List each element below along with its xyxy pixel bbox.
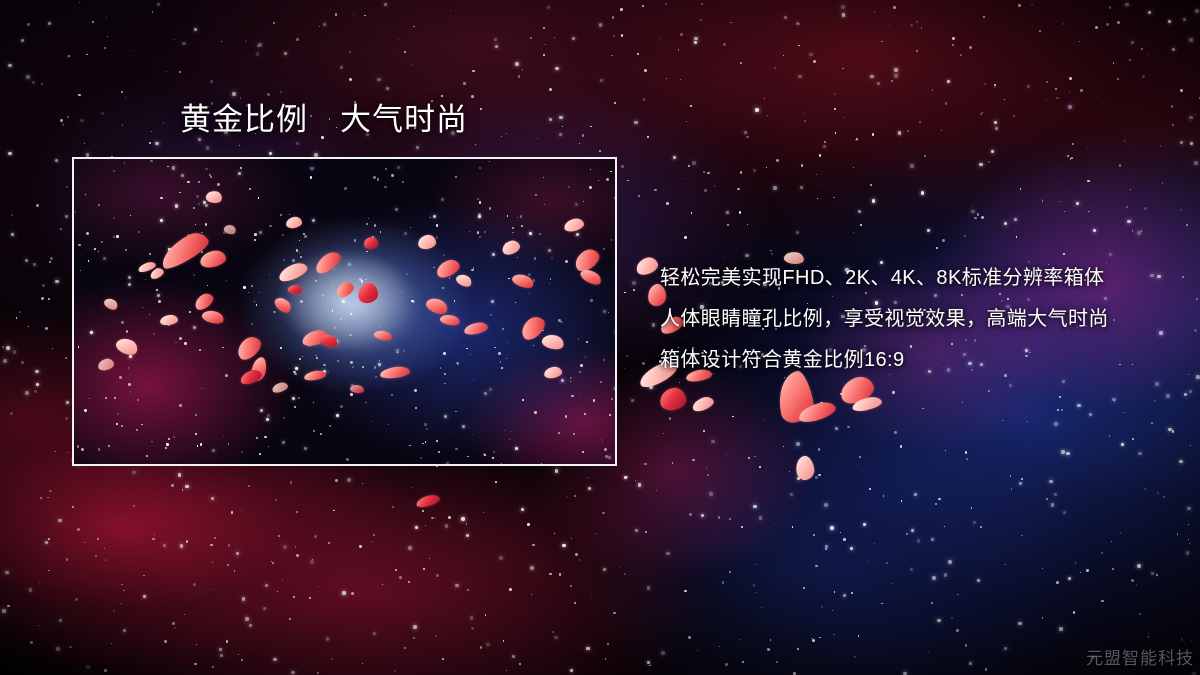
petal: [691, 395, 716, 414]
body-line-3: 箱体设计符合黄金比例16:9: [660, 340, 1180, 381]
petal: [794, 455, 816, 482]
body-line-1: 轻松完美实现FHD、2K、4K、8K标准分辨率箱体: [660, 258, 1180, 299]
slide-title: 黄金比例 大气时尚: [180, 100, 468, 140]
framed-image-nebula: [74, 159, 615, 464]
slide-canvas: 黄金比例 大气时尚 轻松完美实现FHD、2K、4K、8K标准分辨率箱体 人体眼睛…: [0, 0, 1200, 675]
watermark-label: 元盟智能科技: [1086, 649, 1194, 669]
framed-image-inner: [74, 159, 615, 464]
framed-galaxy-image: [72, 157, 617, 466]
body-line-2: 人体眼睛瞳孔比例，享受视觉效果，高端大气时尚: [660, 299, 1180, 340]
body-copy-block: 轻松完美实现FHD、2K、4K、8K标准分辨率箱体 人体眼睛瞳孔比例，享受视觉效…: [660, 258, 1180, 381]
petal: [364, 237, 378, 249]
petal: [415, 493, 441, 509]
petal: [659, 386, 688, 411]
petal: [634, 255, 660, 277]
